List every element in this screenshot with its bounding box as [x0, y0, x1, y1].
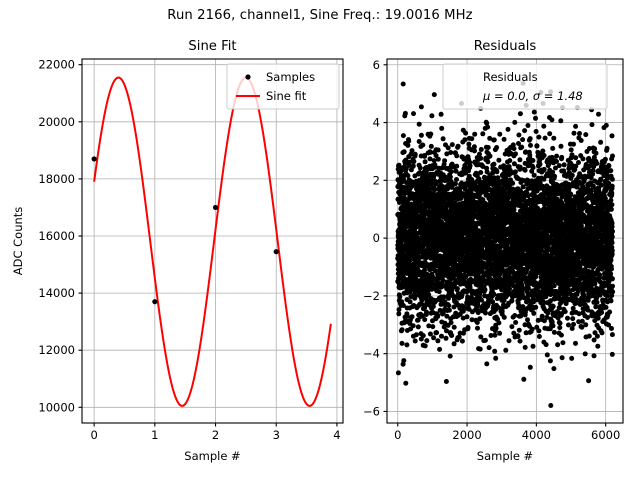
x-tick-label: 4: [333, 428, 340, 442]
y-tick-label: 4: [373, 116, 380, 130]
y-tick-label: 20000: [38, 115, 75, 129]
x-tick-label: 3: [273, 428, 280, 442]
figure-suptitle: Run 2166, channel1, Sine Freq.: 19.0016 …: [0, 8, 640, 23]
y-tick-label: 2: [373, 173, 380, 187]
sample-point: [152, 299, 157, 304]
x-axis-label: Sample #: [184, 449, 240, 463]
legend-label-residuals: Residuals: [483, 70, 538, 84]
x-tick-label: 0: [90, 428, 97, 442]
matplotlib-figure: Run 2166, channel1, Sine Freq.: 19.0016 …: [0, 0, 640, 480]
y-tick-label: 6: [373, 58, 380, 72]
plot-canvas: 0123410000120001400016000180002000022000…: [0, 0, 640, 480]
y-tick-label: −4: [363, 347, 380, 361]
x-tick-label: 2: [212, 428, 219, 442]
y-tick-label: −6: [363, 404, 380, 418]
sample-point: [92, 156, 97, 161]
y-tick-label: 18000: [38, 172, 75, 186]
y-tick-label: 16000: [38, 229, 75, 243]
y-tick-label: 14000: [38, 286, 75, 300]
y-tick-label: 10000: [38, 400, 75, 414]
residuals-axes: 0200040006000−6−4−20246ResidualsSample #…: [363, 39, 623, 463]
y-axis-label: ADC Counts: [11, 207, 25, 276]
sine-fit-axes: 0123410000120001400016000180002000022000…: [11, 39, 343, 463]
y-tick-label: 12000: [38, 343, 75, 357]
x-tick-label: 0: [394, 428, 401, 442]
legend-label-residual-stats: μ = 0.0, σ = 1.48: [482, 89, 583, 103]
y-tick-label: −2: [363, 289, 380, 303]
axes-title: Sine Fit: [188, 39, 236, 54]
legend-label-samples: Samples: [266, 70, 315, 84]
sample-point: [274, 249, 279, 254]
axes-title: Residuals: [474, 39, 537, 54]
x-axis-label: Sample #: [477, 449, 533, 463]
legend-label-sine-fit: Sine fit: [266, 89, 307, 103]
y-tick-label: 0: [373, 231, 380, 245]
legend-marker-samples: [245, 74, 250, 79]
sample-point: [213, 205, 218, 210]
x-tick-label: 6000: [591, 428, 620, 442]
x-tick-label: 1: [151, 428, 158, 442]
axes-background: [82, 59, 343, 423]
x-tick-label: 4000: [522, 428, 551, 442]
x-tick-label: 2000: [452, 428, 481, 442]
y-tick-label: 22000: [38, 58, 75, 72]
